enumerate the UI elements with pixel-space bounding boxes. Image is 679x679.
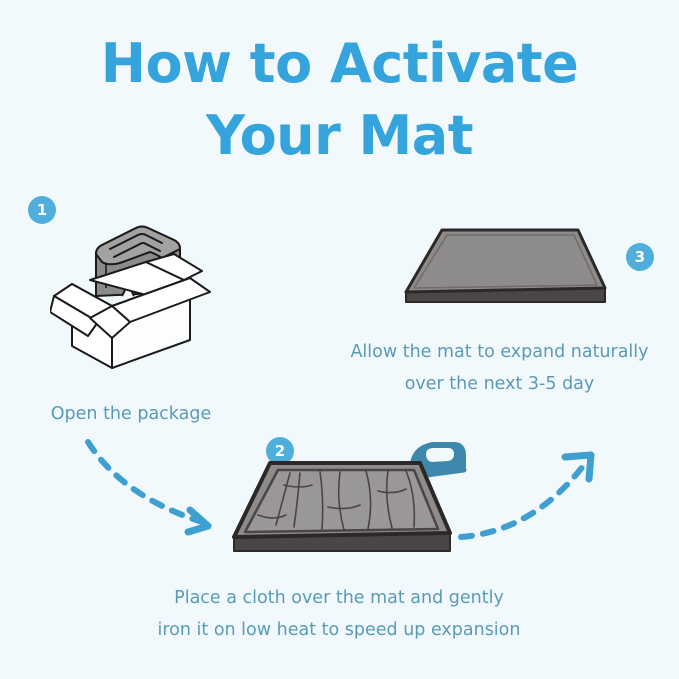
step-3-badge: 3 bbox=[626, 243, 654, 271]
flat-mat-icon bbox=[398, 218, 613, 318]
step-1-caption-line-1: Open the package bbox=[51, 404, 211, 424]
step-2-caption: Place a cloth over the mat and gently ir… bbox=[106, 582, 572, 646]
page-title-line-1: How to Activate bbox=[0, 28, 679, 100]
wrinkled-mat-icon bbox=[228, 455, 458, 560]
step-2-caption-line-1: Place a cloth over the mat and gently bbox=[174, 588, 504, 608]
step-2-caption-line-2: iron it on low heat to speed up expansio… bbox=[158, 620, 521, 640]
step-3-caption: Allow the mat to expand naturally over t… bbox=[320, 336, 679, 400]
dashed-curved-arrow-icon bbox=[455, 445, 610, 550]
dashed-curved-arrow-icon bbox=[78, 438, 238, 548]
step-3-caption-line-1: Allow the mat to expand naturally bbox=[350, 342, 648, 362]
infographic-canvas: How to Activate Your Mat 1 bbox=[0, 0, 679, 679]
step-3-caption-line-2: over the next 3-5 day bbox=[405, 374, 595, 394]
step-1-caption: Open the package bbox=[0, 398, 262, 430]
cardboard-box-icon bbox=[50, 218, 230, 383]
page-title: How to Activate Your Mat bbox=[0, 28, 679, 172]
page-title-line-2: Your Mat bbox=[0, 100, 679, 172]
